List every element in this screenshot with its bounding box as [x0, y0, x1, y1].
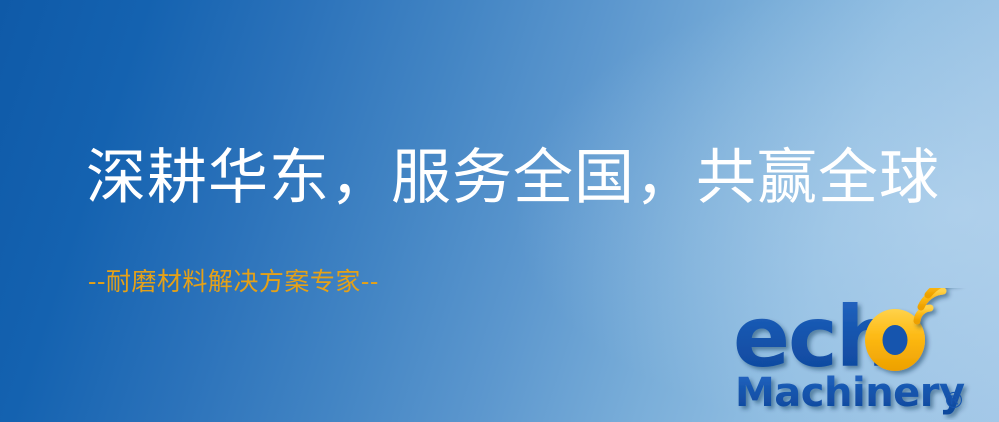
echo-machinery-logo: ech Machinery ®	[731, 288, 993, 420]
banner-subtitle: --耐磨材料解决方案专家--	[88, 268, 379, 296]
logo-tagline-text: Machinery	[735, 370, 965, 416]
promotional-banner: 深耕华东，服务全国，共赢全球 --耐磨材料解决方案专家--	[0, 0, 999, 422]
wifi-arcs-icon	[917, 288, 957, 321]
banner-headline: 深耕华东，服务全国，共赢全球	[86, 146, 940, 211]
logo-tagline-group: Machinery ®	[735, 370, 965, 416]
logo-trademark-symbol: ®	[943, 389, 965, 414]
